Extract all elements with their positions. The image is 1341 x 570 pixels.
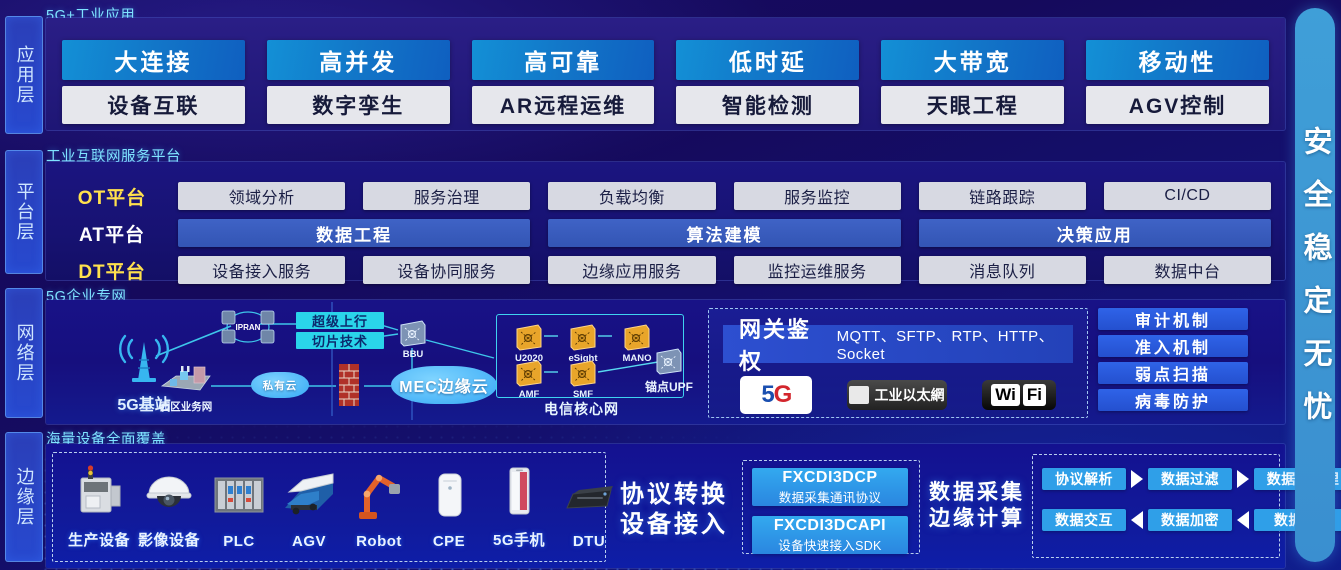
- platform-layer-band: OT平台 领域分析 服务治理 负载均衡 服务监控 链路跟踪 CI/CD AT平台…: [46, 162, 1285, 280]
- platform-cells-at: 数据工程 算法建模 决策应用: [178, 219, 1271, 247]
- access-logo-row: 5G 工业以太網 WiFi: [723, 375, 1073, 415]
- device-item[interactable]: 影像设备: [134, 460, 204, 550]
- park-network-icon: [156, 364, 216, 394]
- core-node-label: MANO: [622, 353, 651, 364]
- platform-tag-ot: OT平台: [56, 183, 168, 210]
- core-node-esight: eSight: [568, 322, 598, 352]
- layer-tab-platform-label: 平台层: [13, 182, 34, 242]
- dome-camera-icon: [139, 460, 199, 520]
- security-item-audit[interactable]: 审计机制: [1098, 308, 1248, 330]
- platform-cell[interactable]: 算法建模: [548, 219, 900, 247]
- device-item[interactable]: 生产设备: [64, 460, 134, 550]
- application-column: 移动性 AGV控制: [1086, 40, 1269, 124]
- firewall: [336, 362, 362, 413]
- network-device-icon: [568, 358, 598, 388]
- capability-box[interactable]: 高可靠: [472, 40, 655, 80]
- sdk-item-dcapi[interactable]: FXCDI3DCAPI 设备快速接入SDK: [752, 516, 908, 554]
- platform-row-dt: DT平台 设备接入服务 设备协同服务 边缘应用服务 监控运维服务 消息队列 数据…: [56, 256, 1271, 284]
- device-label: 影像设备: [134, 529, 204, 550]
- layer-tab-network-label: 网络层: [13, 323, 34, 383]
- layer-tab-edge[interactable]: 边缘层: [5, 432, 43, 562]
- agv-vehicle-icon: [279, 464, 339, 524]
- right-banner: 安全稳定无忧: [1295, 8, 1335, 562]
- anchor-upf-node: 锚点UPF: [654, 346, 684, 376]
- layer-tab-application-label: 应用层: [13, 45, 34, 105]
- ethernet-port-icon: [849, 386, 869, 404]
- network-device-icon: [654, 346, 684, 376]
- data-collection-text: 数据采集 边缘计算: [922, 480, 1032, 533]
- platform-cell[interactable]: 设备协同服务: [363, 256, 530, 284]
- application-layer-band: 大连接 设备互联 高并发 数字孪生 高可靠 AR远程运维 低时延 智能检测 大带…: [46, 18, 1285, 130]
- protocol-conversion-text: 协议转换 设备接入: [614, 480, 734, 540]
- device-label: 生产设备: [64, 529, 134, 550]
- industrial-ethernet-logo: 工业以太網: [847, 380, 947, 410]
- platform-cell[interactable]: 链路跟踪: [919, 182, 1086, 210]
- core-node-label: SMF: [573, 389, 593, 400]
- 5g-logo-letter: G: [774, 381, 792, 409]
- flow-step-data-encrypt[interactable]: 数据加密: [1148, 509, 1232, 531]
- sdk-name: FXCDI3DCP: [782, 469, 877, 487]
- network-topology: 5G基站 IPRAN 超级上行 切片技术: [46, 300, 1285, 424]
- anchor-upf-label: 锚点UPF: [645, 378, 693, 395]
- platform-cell[interactable]: 决策应用: [919, 219, 1271, 247]
- security-item-scan[interactable]: 弱点扫描: [1098, 362, 1248, 384]
- core-node-mano: MANO: [622, 322, 652, 352]
- platform-cell[interactable]: 领域分析: [178, 182, 345, 210]
- protocol-conversion-line2: 设备接入: [614, 510, 734, 540]
- scenario-box[interactable]: 天眼工程: [881, 86, 1064, 124]
- scenario-box[interactable]: 数字孪生: [267, 86, 450, 124]
- capability-box[interactable]: 低时延: [676, 40, 859, 80]
- scenario-box[interactable]: AGV控制: [1086, 86, 1269, 124]
- device-item[interactable]: 5G手机: [484, 460, 554, 550]
- wifi-logo-fi: Fi: [1023, 384, 1046, 406]
- gateway-title: 网关鉴权: [739, 312, 819, 376]
- platform-rows: OT平台 领域分析 服务治理 负载均衡 服务监控 链路跟踪 CI/CD AT平台…: [56, 182, 1271, 284]
- security-item-admission[interactable]: 准入机制: [1098, 335, 1248, 357]
- data-collection-line2: 边缘计算: [922, 506, 1032, 532]
- platform-cell[interactable]: 数据工程: [178, 219, 530, 247]
- network-device-icon: [514, 322, 544, 352]
- ipran-ring-icon: IPRAN: [218, 308, 278, 346]
- device-label: PLC: [204, 533, 274, 550]
- application-column: 低时延 智能检测: [676, 40, 859, 124]
- core-node-label: AMF: [519, 389, 540, 400]
- platform-cell[interactable]: 边缘应用服务: [548, 256, 715, 284]
- platform-cell[interactable]: 消息队列: [919, 256, 1086, 284]
- network-device-icon: [622, 322, 652, 352]
- scenario-box[interactable]: 设备互联: [62, 86, 245, 124]
- private-cloud: 私有云: [251, 372, 309, 398]
- platform-cell[interactable]: 服务监控: [734, 182, 901, 210]
- capability-box[interactable]: 大带宽: [881, 40, 1064, 80]
- data-collection-line1: 数据采集: [922, 480, 1032, 506]
- platform-tag-at: AT平台: [56, 220, 168, 247]
- scenario-box[interactable]: AR远程运维: [472, 86, 655, 124]
- flow-step-protocol-parse[interactable]: 协议解析: [1042, 468, 1126, 490]
- platform-cells-ot: 领域分析 服务治理 负载均衡 服务监控 链路跟踪 CI/CD: [178, 182, 1271, 210]
- smartphone-icon: [489, 460, 549, 520]
- tech-chip-slicing[interactable]: 切片技术: [296, 332, 384, 349]
- private-cloud-label: 私有云: [263, 378, 298, 393]
- arrow-right-icon: [1131, 470, 1143, 488]
- device-item[interactable]: Robot: [344, 464, 414, 550]
- application-column: 高并发 数字孪生: [267, 40, 450, 124]
- gateway-bar: 网关鉴权 MQTT、SFTP、RTP、HTTP、Socket: [723, 325, 1073, 363]
- layer-tab-application[interactable]: 应用层: [5, 16, 43, 134]
- telecom-core-network-label: 电信核心网: [544, 399, 619, 419]
- platform-cell[interactable]: 设备接入服务: [178, 256, 345, 284]
- robot-arm-icon: [349, 464, 409, 524]
- sdk-desc: 设备快速接入SDK: [778, 535, 881, 554]
- sdk-item-dcp[interactable]: FXCDI3DCP 数据采集通讯协议: [752, 468, 908, 506]
- arrow-left-icon: [1237, 511, 1249, 529]
- application-column-grid: 大连接 设备互联 高并发 数字孪生 高可靠 AR远程运维 低时延 智能检测 大带…: [62, 40, 1269, 124]
- device-list: 生产设备 影像设备: [64, 460, 624, 550]
- 5g-logo-digit: 5: [761, 381, 773, 409]
- protocol-conversion-line1: 协议转换: [614, 480, 734, 510]
- platform-row-at: AT平台 数据工程 算法建模 决策应用: [56, 219, 1271, 247]
- layer-tab-platform[interactable]: 平台层: [5, 150, 43, 274]
- sdk-list: FXCDI3DCP 数据采集通讯协议 FXCDI3DCAPI 设备快速接入SDK: [752, 468, 908, 554]
- ipran-cluster: IPRAN: [218, 308, 278, 346]
- bbu-label: BBU: [403, 349, 424, 360]
- production-machine-icon: [69, 460, 129, 520]
- sdk-name: FXCDI3DCAPI: [774, 517, 886, 535]
- gateway-panel: 网关鉴权 MQTT、SFTP、RTP、HTTP、Socket 5G 工业以太網 …: [708, 308, 1088, 418]
- network-device-icon: [568, 322, 598, 352]
- device-label: Robot: [344, 533, 414, 550]
- platform-cell[interactable]: CI/CD: [1104, 182, 1271, 210]
- device-item[interactable]: AGV: [274, 464, 344, 550]
- network-layer-band: 5G基站 IPRAN 超级上行 切片技术: [46, 300, 1285, 424]
- application-column: 高可靠 AR远程运维: [472, 40, 655, 124]
- mec-edge-cloud: MEC边缘云: [391, 366, 497, 404]
- wifi-logo: WiFi: [982, 380, 1056, 410]
- dtu-box-icon: [559, 464, 619, 524]
- capability-box[interactable]: 移动性: [1086, 40, 1269, 80]
- flow-step-data-filter[interactable]: 数据过滤: [1148, 468, 1232, 490]
- platform-row-ot: OT平台 领域分析 服务治理 负载均衡 服务监控 链路跟踪 CI/CD: [56, 182, 1271, 210]
- tech-chip-super-uplink[interactable]: 超级上行: [296, 312, 384, 329]
- gateway-protocols: MQTT、SFTP、RTP、HTTP、Socket: [837, 325, 1057, 363]
- core-node-amf: AMF: [514, 358, 544, 388]
- core-node-smf: SMF: [568, 358, 598, 388]
- wifi-logo-wi: Wi: [991, 384, 1020, 406]
- capability-box[interactable]: 大连接: [62, 40, 245, 80]
- architecture-diagram: 应用层 平台层 网络层 边缘层 5G+工业应用 大连接 设备互联 高并发 数字孪…: [0, 0, 1341, 570]
- device-item[interactable]: PLC: [204, 464, 274, 550]
- flow-step-data-interact[interactable]: 数据交互: [1042, 509, 1126, 531]
- edge-layer-band: 生产设备 影像设备: [46, 444, 1285, 568]
- right-banner-text: 安全稳定无忧: [1294, 126, 1336, 444]
- industrial-ethernet-label: 工业以太網: [874, 385, 944, 405]
- 5g-logo: 5G: [740, 376, 812, 414]
- layer-tab-network[interactable]: 网络层: [5, 288, 43, 418]
- mec-edge-cloud-label: MEC边缘云: [399, 373, 489, 397]
- platform-cell[interactable]: 监控运维服务: [734, 256, 901, 284]
- device-item[interactable]: CPE: [414, 464, 484, 550]
- application-column: 大连接 设备互联: [62, 40, 245, 124]
- arrow-right-icon: [1237, 470, 1249, 488]
- device-label: CPE: [414, 533, 484, 550]
- layer-tab-edge-label: 边缘层: [13, 467, 34, 527]
- cpe-box-icon: [419, 464, 479, 524]
- plc-rack-icon: [209, 464, 269, 524]
- sdk-desc: 数据采集通讯协议: [779, 487, 881, 506]
- device-label: 5G手机: [484, 529, 554, 550]
- bbu-node: BBU: [398, 318, 428, 348]
- security-item-antivirus[interactable]: 病毒防护: [1098, 389, 1248, 411]
- network-device-icon: [398, 318, 428, 348]
- security-mechanism-list: 审计机制 准入机制 弱点扫描 病毒防护: [1098, 308, 1248, 411]
- platform-cell[interactable]: 服务治理: [363, 182, 530, 210]
- park-network: 园区业务网: [156, 364, 216, 414]
- park-network-label: 园区业务网: [156, 399, 216, 414]
- platform-tag-dt: DT平台: [56, 257, 168, 284]
- core-node-u2020: U2020: [514, 322, 544, 352]
- arrow-left-icon: [1131, 511, 1143, 529]
- capability-box[interactable]: 高并发: [267, 40, 450, 80]
- application-column: 大带宽 天眼工程: [881, 40, 1064, 124]
- platform-cell[interactable]: 数据中台: [1104, 256, 1271, 284]
- svg-text:IPRAN: IPRAN: [236, 323, 261, 332]
- network-device-icon: [514, 358, 544, 388]
- platform-cells-dt: 设备接入服务 设备协同服务 边缘应用服务 监控运维服务 消息队列 数据中台: [178, 256, 1271, 284]
- platform-cell[interactable]: 负载均衡: [548, 182, 715, 210]
- firewall-brick-icon: [336, 362, 362, 408]
- scenario-box[interactable]: 智能检测: [676, 86, 859, 124]
- device-label: AGV: [274, 533, 344, 550]
